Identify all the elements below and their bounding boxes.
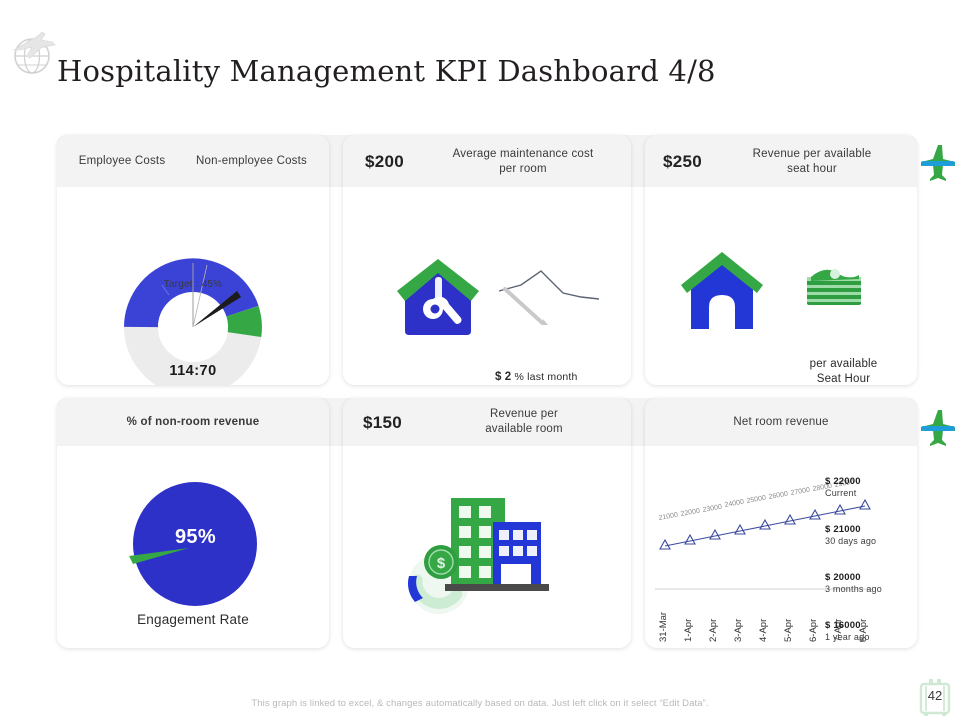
house-icon xyxy=(679,249,765,336)
pie-caption: Engagement Rate xyxy=(57,612,329,627)
page-number: 42 xyxy=(915,688,955,703)
legend-value-1: $ 21000 xyxy=(825,524,909,535)
x-tick-6: 6-Apr xyxy=(808,619,819,642)
svg-text:$: $ xyxy=(437,555,446,572)
legend-value-3: $ 16000 xyxy=(825,620,909,631)
delta-value: 2 xyxy=(505,371,512,383)
legend-label-3: 1 year ago xyxy=(825,632,909,642)
footer-note: This graph is linked to excel, & changes… xyxy=(0,698,960,709)
card6-body: 21000 22000 23000 24000 25000 26000 2700… xyxy=(645,446,917,648)
kpi-value-200: $200 xyxy=(365,152,404,172)
card5-title-line2: available room xyxy=(429,422,619,436)
card5-body: $ xyxy=(343,446,631,648)
x-tick-5: 5-Apr xyxy=(783,619,794,642)
legend-label-2: 3 months ago xyxy=(825,584,909,594)
card5-title-line1: Revenue per xyxy=(429,407,619,421)
pie-chart xyxy=(123,478,263,623)
card-non-room-revenue[interactable]: % of non-room revenue 95% Engagement Rat… xyxy=(57,398,329,648)
card4-body: 95% Engagement Rate xyxy=(57,446,329,648)
card3-title-line2: seat hour xyxy=(717,162,907,176)
svg-text:24000: 24000 xyxy=(724,499,744,509)
legend-value-0: $ 22000 xyxy=(825,476,909,487)
delta-currency: $ xyxy=(495,371,502,383)
house-wrench-icon xyxy=(395,255,481,342)
kpi-value-150: $150 xyxy=(363,413,402,433)
label-employee-costs: Employee Costs xyxy=(67,154,177,168)
line-chart-legend: $ 22000 Current $ 21000 30 days ago $ 20… xyxy=(825,454,909,648)
header: Hospitality Management KPI Dashboard 4/8 xyxy=(0,18,960,92)
legend-label-0: Current xyxy=(825,488,909,498)
gauge-target-label: Target : 45% xyxy=(57,279,329,290)
airplane-icon-top xyxy=(918,142,958,182)
x-tick-4: 4-Apr xyxy=(758,619,769,642)
delta-last-month: $ 2 % last month xyxy=(495,371,625,383)
kpi-row-1: Employee Costs Non-employee Costs xyxy=(57,135,917,385)
revpash-caption-line1: per available xyxy=(781,357,906,372)
x-tick-1: 1-Apr xyxy=(683,619,694,642)
label-non-employee-costs: Non-employee Costs xyxy=(179,154,324,168)
card-avg-maintenance-cost[interactable]: $200 Average maintenance cost per room xyxy=(343,135,631,385)
svg-text:26000: 26000 xyxy=(768,491,788,501)
slide-root: Hospitality Management KPI Dashboard 4/8… xyxy=(0,0,960,720)
card6-title: Net room revenue xyxy=(651,415,911,429)
airplane-icon-bottom xyxy=(918,407,958,447)
legend-entry-current: $ 22000 Current xyxy=(825,476,909,498)
card-net-room-revenue[interactable]: Net room revenue 21000 22000 23000 24000… xyxy=(645,398,917,648)
svg-text:25000: 25000 xyxy=(746,495,766,505)
svg-text:21000: 21000 xyxy=(658,512,678,522)
card2-title-line2: per room xyxy=(423,162,623,176)
gauge-value: 114:70 xyxy=(57,363,329,379)
cash-stack-icon xyxy=(803,265,865,314)
globe-airplane-logo-icon xyxy=(8,28,60,80)
x-tick-0: 31-Mar xyxy=(658,612,669,642)
kpi-value-250: $250 xyxy=(663,152,702,172)
x-tick-3: 3-Apr xyxy=(733,619,744,642)
kpi-row-2: % of non-room revenue 95% Engagement Rat… xyxy=(57,398,917,648)
legend-entry-30-days: $ 21000 30 days ago xyxy=(825,524,909,546)
page-title: Hospitality Management KPI Dashboard 4/8 xyxy=(57,54,716,88)
card-revpar[interactable]: $150 Revenue per available room xyxy=(343,398,631,648)
revpash-caption: per available Seat Hour xyxy=(781,357,906,385)
card4-title: % of non-room revenue xyxy=(63,415,323,429)
trend-sparkline xyxy=(493,263,603,330)
legend-label-1: 30 days ago xyxy=(825,536,909,546)
pie-data-label: 95% xyxy=(175,526,216,549)
revpash-caption-line2: Seat Hour xyxy=(781,372,906,385)
buildings-coin-icon: $ xyxy=(401,488,561,623)
legend-value-2: $ 20000 xyxy=(825,572,909,583)
delta-suffix: % last month xyxy=(514,371,577,383)
card1-body: Target : 45% 114:70 xyxy=(57,187,329,385)
card2-title-line1: Average maintenance cost xyxy=(423,147,623,161)
svg-text:23000: 23000 xyxy=(702,504,722,514)
card-revpash[interactable]: $250 Revenue per available seat hour xyxy=(645,135,917,385)
card2-body: $ 2 % last month xyxy=(343,187,631,385)
card3-body: per available Seat Hour xyxy=(645,187,917,385)
svg-text:22000: 22000 xyxy=(680,508,700,518)
legend-entry-3-months: $ 20000 3 months ago xyxy=(825,572,909,594)
legend-entry-1-year: $ 16000 1 year ago xyxy=(825,620,909,642)
card3-title-line1: Revenue per available xyxy=(717,147,907,161)
card-employee-costs[interactable]: Employee Costs Non-employee Costs xyxy=(57,135,329,385)
x-tick-2: 2-Apr xyxy=(708,619,719,642)
svg-text:27000: 27000 xyxy=(790,487,810,497)
